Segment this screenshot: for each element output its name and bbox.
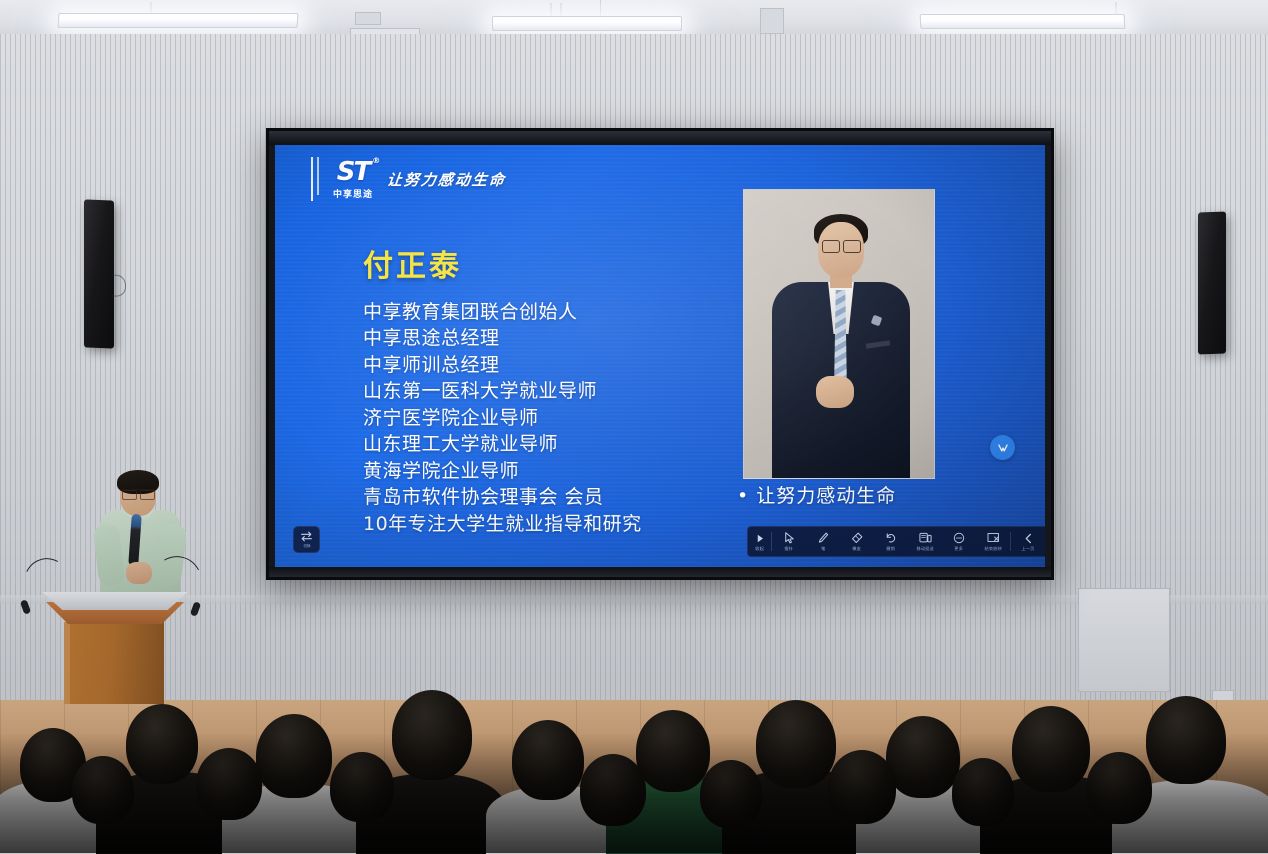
logo-company-name: 中享思途 <box>333 187 373 200</box>
cursor-arrow-icon <box>784 532 795 545</box>
toolbar-pen-button[interactable]: 笔 <box>806 527 840 556</box>
portrait-glasses-icon <box>822 240 861 251</box>
toolbar-cast-button[interactable]: 移动投送 <box>908 527 942 556</box>
audience-head <box>126 704 198 784</box>
play-triangle-icon <box>756 532 764 545</box>
ceiling-vent <box>760 8 784 34</box>
toolbar-tools-group: 指针 笔 <box>772 527 1010 556</box>
audience-group <box>0 676 1268 853</box>
ceiling <box>0 0 1268 36</box>
scene-root: ST® 中享思途 让努力感动生命 付正泰 中享教育集团联合创始人 中享思途总经理… <box>0 0 1268 853</box>
presenter-hands <box>126 562 152 584</box>
projection-screen: ST® 中享思途 让努力感动生命 付正泰 中享教育集团联合创始人 中享思途总经理… <box>266 128 1054 580</box>
toolbar-cast-label: 移动投送 <box>916 546 933 552</box>
list-item: 山东理工大学就业导师 <box>363 432 642 457</box>
bullet-marker: • <box>737 485 749 507</box>
portrait-hands <box>816 376 854 408</box>
cast-device-icon <box>919 532 932 545</box>
toolbar-end-presentation-button[interactable]: 结束放映 <box>976 527 1010 556</box>
list-item: 黄海学院企业导师 <box>363 459 642 484</box>
slide-speaker-name: 付正泰 <box>363 241 462 285</box>
speaker-portrait-photo <box>743 189 935 479</box>
toolbar-pointer-label: 指针 <box>785 546 794 552</box>
toolbar-eraser-button[interactable]: 橡皮 <box>840 527 874 556</box>
bullet-text: 让努力感动生命 <box>756 485 896 507</box>
wall-speaker-right <box>1198 211 1226 354</box>
audience-head <box>256 714 332 798</box>
audience-head <box>512 720 584 800</box>
audience-head <box>330 752 394 822</box>
wall-speaker-left <box>84 199 114 348</box>
list-item: 中享思途总经理 <box>363 326 642 351</box>
undo-arrow-icon <box>885 532 897 545</box>
swap-toggle-label: 切换 <box>303 543 310 548</box>
audience-head <box>72 756 134 824</box>
toolbar-pointer-button[interactable]: 指针 <box>772 527 806 556</box>
ceiling-light <box>492 16 682 31</box>
slide-bullet-line: • 让努力感动生命 <box>737 481 896 508</box>
toolbar-collapse-label: 收起 <box>755 546 764 552</box>
logo-bars-icon <box>311 157 319 201</box>
slide-logo: ST® 中享思途 让努力感动生命 <box>311 157 506 201</box>
screen-bezel-top <box>269 131 1051 145</box>
toolbar-prev-page-button[interactable]: 上一页 <box>1011 527 1045 556</box>
audience-head <box>580 754 646 826</box>
audience-head <box>952 758 1014 826</box>
toolbar-undo-label: 撤销 <box>887 546 896 552</box>
toolbar-collapse-button[interactable]: 收起 <box>748 527 771 556</box>
light-stem <box>550 3 552 16</box>
list-item: 山东第一医科大学就业导师 <box>363 379 642 404</box>
list-item: 青岛市软件协会理事会 会员 <box>363 485 642 510</box>
list-item: 中享教育集团联合创始人 <box>363 300 642 325</box>
audience-head <box>636 710 710 792</box>
audience-head <box>828 750 896 824</box>
pen-icon <box>818 532 829 545</box>
toolbar-pen-label: 笔 <box>821 546 825 552</box>
audience-head <box>1086 752 1152 824</box>
presentation-toolbar[interactable]: 收起 指针 <box>747 526 1045 557</box>
ceiling-light <box>58 13 299 28</box>
list-item: 10年专注大学生就业指导和研究 <box>363 512 642 537</box>
ceiling-vent <box>355 12 381 25</box>
swap-arrows-icon <box>300 531 313 542</box>
audience-head <box>392 690 472 780</box>
toolbar-undo-button[interactable]: 撤销 <box>874 527 908 556</box>
list-item: 中享师训总经理 <box>363 353 642 378</box>
logo-st-letters: ST <box>337 157 369 187</box>
podium-top <box>42 592 188 610</box>
list-item: 济宁医学院企业导师 <box>363 406 642 431</box>
audience-head <box>756 700 836 788</box>
toolbar-more-label: 更多 <box>955 546 964 552</box>
chevron-left-icon <box>1024 532 1033 545</box>
toolbar-eraser-label: 橡皮 <box>853 546 862 552</box>
slide-canvas: ST® 中享思途 让努力感动生命 付正泰 中享教育集团联合创始人 中享思途总经理… <box>275 145 1045 567</box>
toolbar-more-button[interactable]: 更多 <box>942 527 976 556</box>
registered-mark: ® <box>372 157 378 165</box>
logo-text: ST® <box>337 159 369 185</box>
slide-credentials-list: 中享教育集团联合创始人 中享思途总经理 中享师训总经理 山东第一医科大学就业导师… <box>363 300 642 537</box>
audience-head <box>196 748 262 820</box>
audience-head <box>1146 696 1226 784</box>
logo-mark: ST® 中享思途 <box>333 159 373 200</box>
wps-watermark-icon <box>990 435 1015 460</box>
eraser-icon <box>851 532 863 545</box>
end-presentation-icon <box>987 532 1000 545</box>
more-circle-icon <box>953 532 965 545</box>
ceiling-light <box>920 14 1126 29</box>
audience-head <box>886 716 960 798</box>
logo-tagline: 让努力感动生命 <box>386 169 507 190</box>
toolbar-end-label: 结束放映 <box>984 546 1001 552</box>
light-stem <box>560 3 562 16</box>
swap-toggle-button[interactable]: 切换 <box>293 526 320 553</box>
audience-head <box>700 760 762 828</box>
presenter-glasses-icon <box>122 489 155 497</box>
screen-bezel-bottom <box>269 567 1051 577</box>
audience-head <box>1012 706 1090 792</box>
toolbar-prev-label: 上一页 <box>1021 546 1034 552</box>
